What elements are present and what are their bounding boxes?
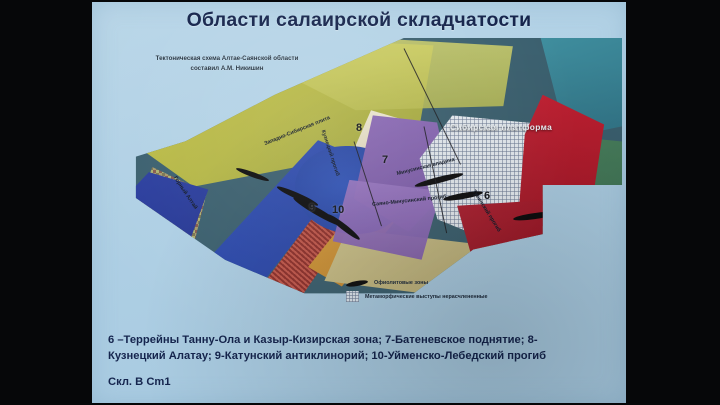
caption-line-3: Скл. В Cm1 (108, 374, 614, 390)
map-number-10: 10 (332, 204, 344, 216)
legend-label-metamorphic: Метаморфические выступы нерасчлененные (365, 294, 487, 300)
letterbox-bar-right (626, 0, 720, 405)
legend-label-ophiolite: Офиолитовые зоны (374, 280, 428, 286)
slide-canvas: Области салаирской складчатости (92, 2, 626, 403)
caption-line-1: 6 –Террейны Танну-Ола и Казыр-Кизирская … (108, 332, 614, 348)
map-label-siberian-platform: Сибирская платформа (450, 122, 552, 132)
map-number-6: 6 (484, 190, 490, 202)
tectonic-map: Тектоническая схема Алтае-Саянской облас… (110, 38, 622, 326)
slide-title: Области салаирской складчатости (92, 9, 626, 32)
slide-caption: 6 –Террейны Танну-Ола и Казыр-Кизирская … (108, 332, 614, 391)
map-number-8: 8 (356, 122, 362, 134)
caption-line-2: Кузнецкий Алатау; 9-Катунский антиклинор… (108, 348, 614, 364)
letterbox-bar-left (0, 0, 92, 405)
map-image (126, 38, 622, 296)
region-crimson-south (434, 198, 603, 275)
map-number-9: 9 (309, 202, 315, 214)
legend-item-metamorphic: Метаморфические выступы нерасчлененные (346, 291, 546, 302)
map-note-line1: Тектоническая схема Алтае-Саянской облас… (156, 55, 299, 62)
map-number-7: 7 (382, 154, 388, 166)
metamorphic-hatch-icon (346, 291, 359, 302)
ophiolite-lens-icon (346, 279, 369, 288)
map-note-line2: составил А.М. Никишин (191, 65, 264, 72)
map-legend: Офиолитовые зоны Метаморфические выступы… (346, 280, 546, 307)
legend-item-ophiolite: Офиолитовые зоны (346, 280, 546, 286)
map-source-note: Тектоническая схема Алтае-Саянской облас… (122, 54, 332, 73)
projected-slide-photo: Области салаирской складчатости (0, 0, 720, 405)
